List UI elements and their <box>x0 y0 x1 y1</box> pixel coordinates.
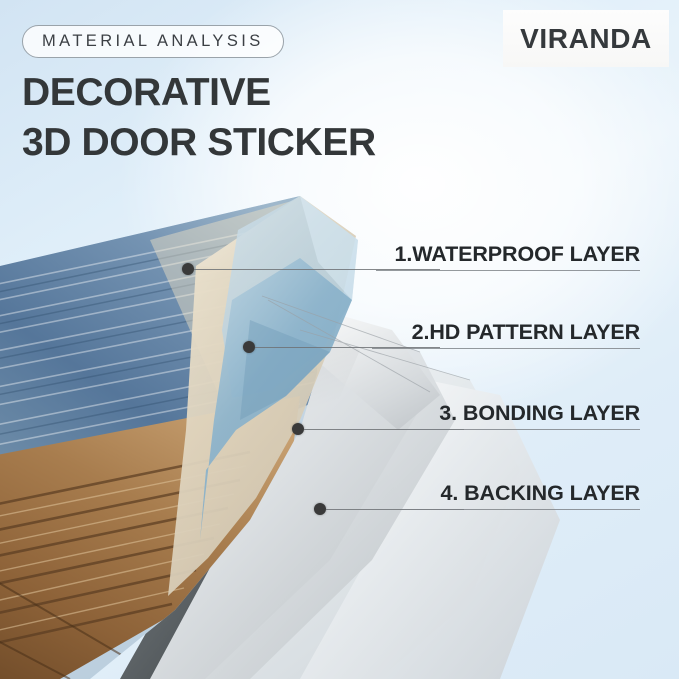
infographic-poster: MATERIAL ANALYSIS DECORATIVE 3D DOOR STI… <box>0 0 679 679</box>
callout-underline-1 <box>376 270 640 271</box>
callout-underline-3 <box>400 429 640 430</box>
brand-logo-box: VIRANDA <box>503 10 669 67</box>
eyebrow-badge: MATERIAL ANALYSIS <box>22 25 284 58</box>
callout-label-1: 1.WATERPROOF LAYER <box>376 241 640 271</box>
callout-dot-2 <box>243 341 255 353</box>
callout-label-text-1: 1.WATERPROOF LAYER <box>376 241 640 267</box>
callout-underline-2 <box>372 348 640 349</box>
brand-name: VIRANDA <box>520 23 652 55</box>
callout-label-3: 3. BONDING LAYER <box>400 400 640 430</box>
callout-label-text-4: 4. BACKING LAYER <box>400 480 640 506</box>
callout-dot-3 <box>292 423 304 435</box>
callout-underline-4 <box>400 509 640 510</box>
callout-label-2: 2.HD PATTERN LAYER <box>372 319 640 349</box>
callout-label-text-2: 2.HD PATTERN LAYER <box>372 319 640 345</box>
page-title: DECORATIVE 3D DOOR STICKER <box>22 68 462 168</box>
callout-label-text-3: 3. BONDING LAYER <box>400 400 640 426</box>
callout-dot-4 <box>314 503 326 515</box>
callout-dot-1 <box>182 263 194 275</box>
callout-label-4: 4. BACKING LAYER <box>400 480 640 510</box>
eyebrow-label: MATERIAL ANALYSIS <box>42 32 264 51</box>
